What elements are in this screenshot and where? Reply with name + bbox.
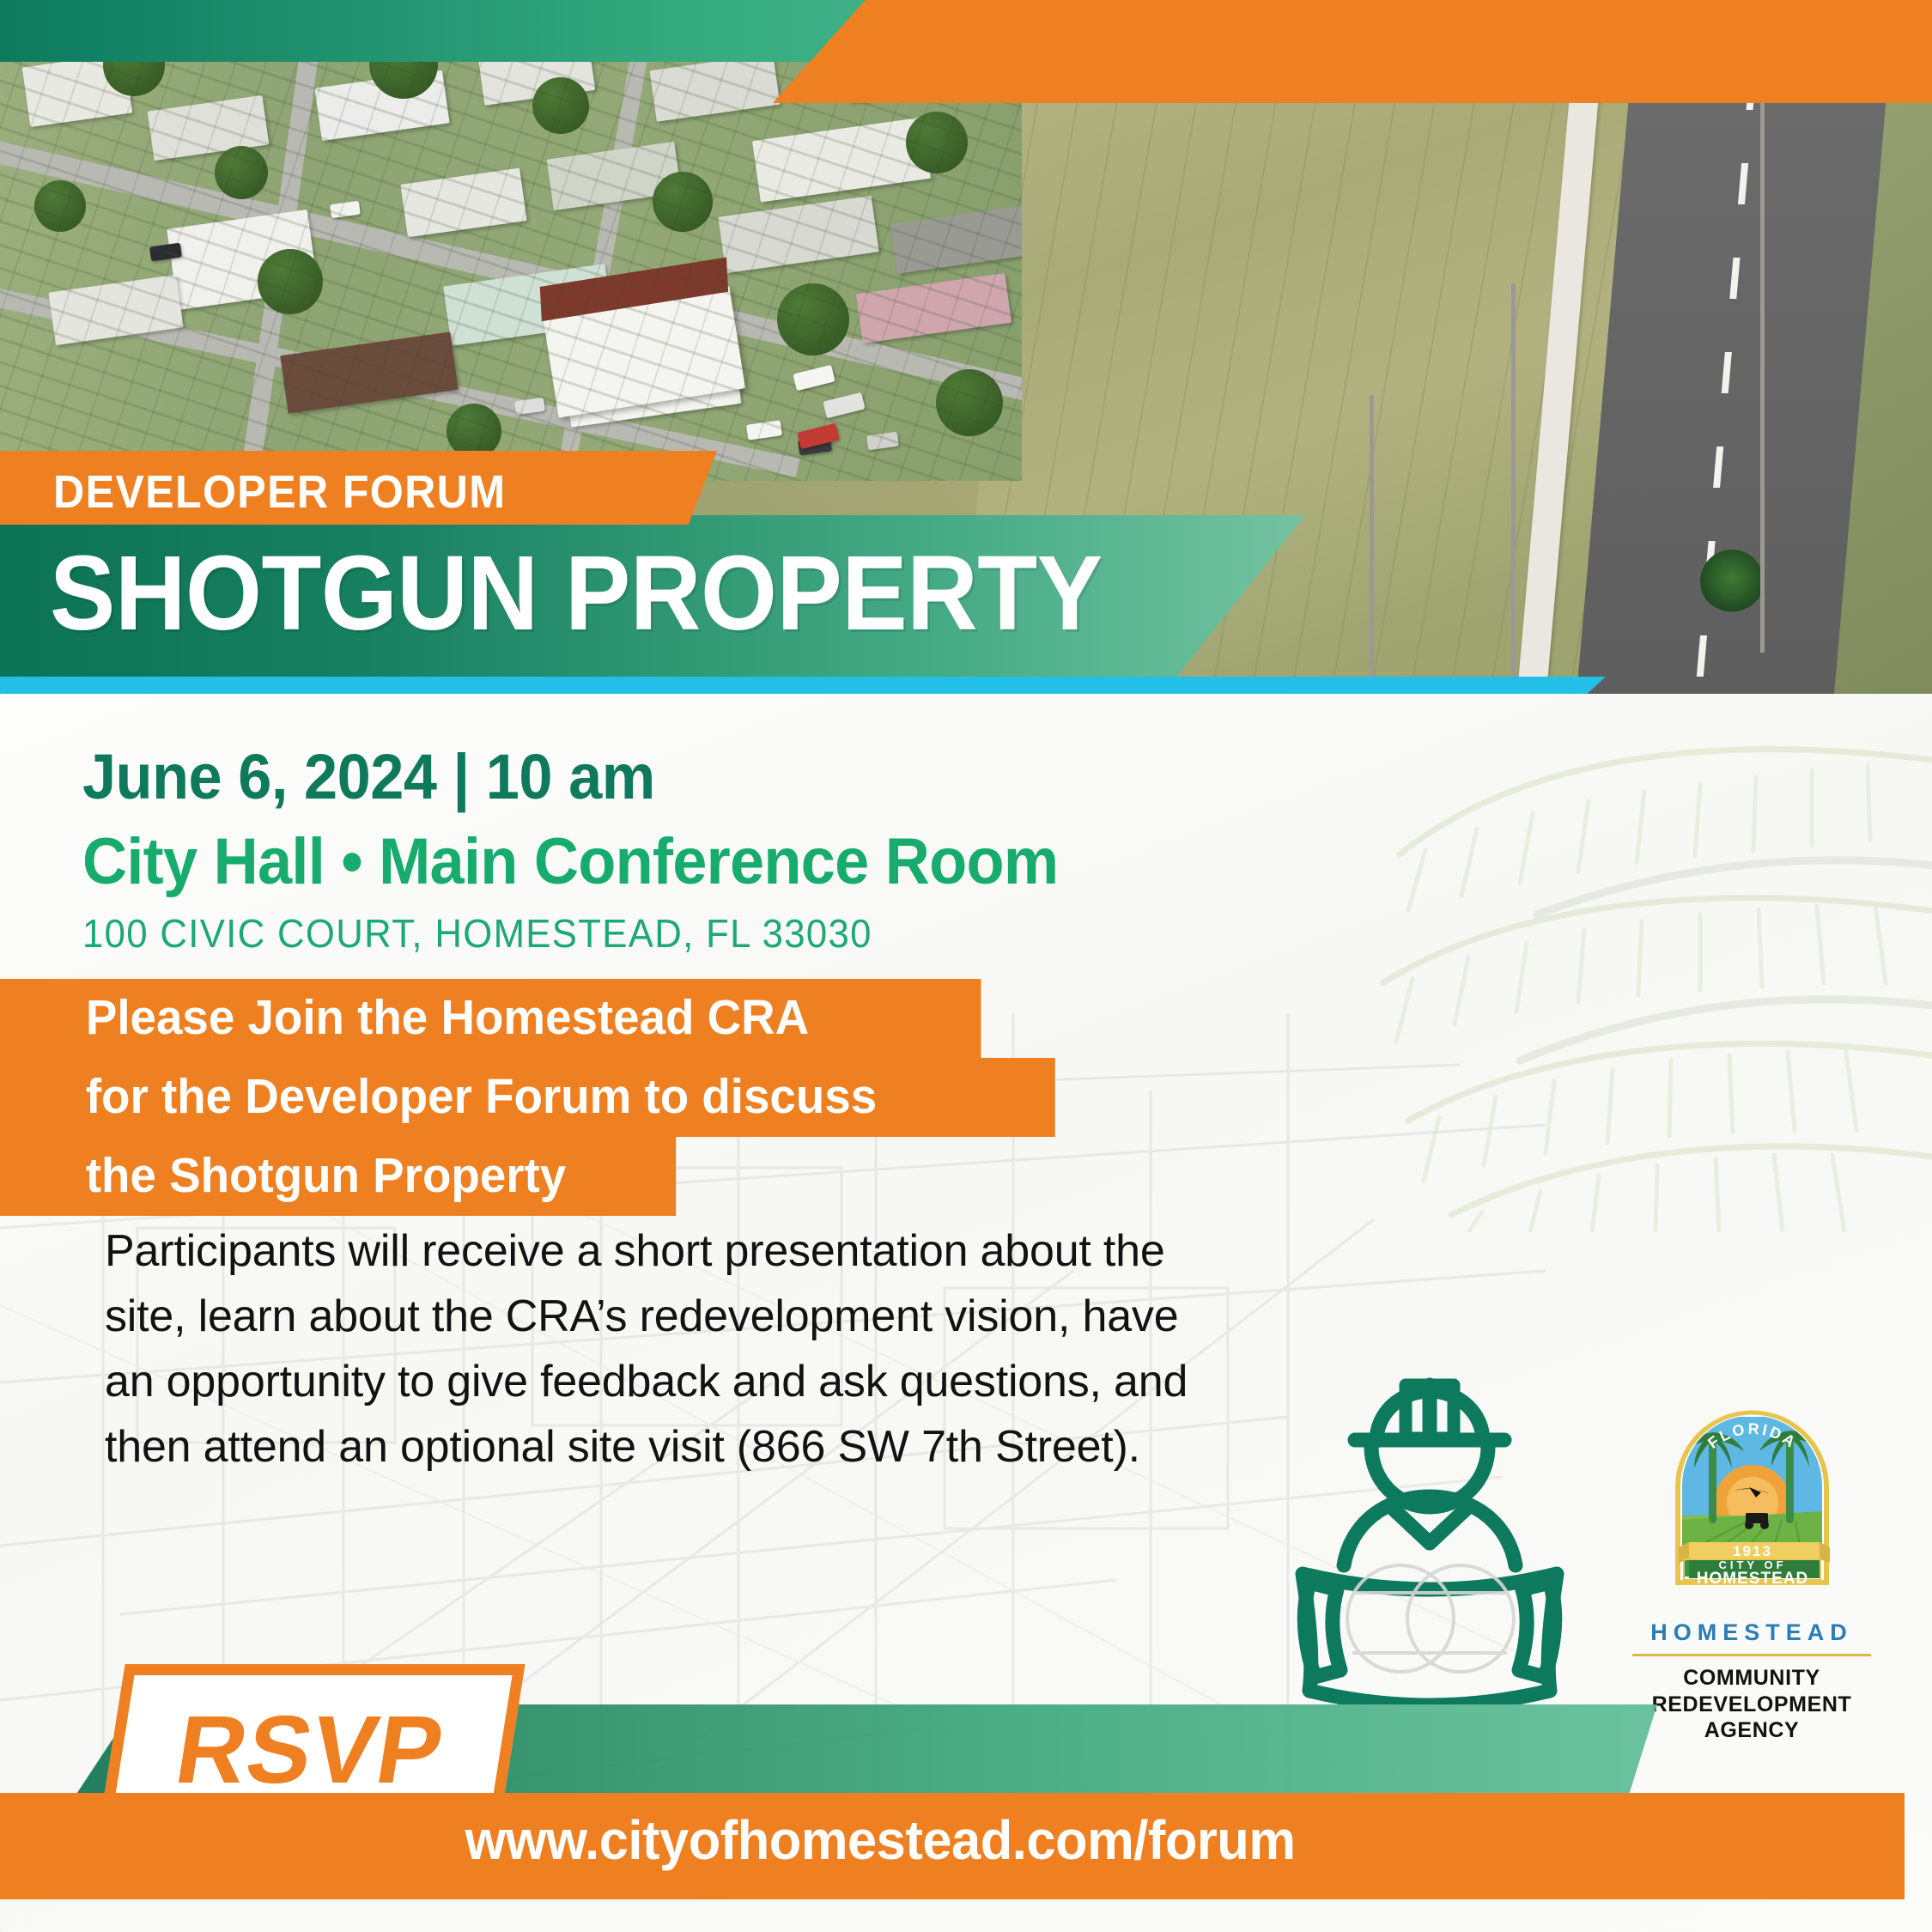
construction-worker-blueprint-icon: [1249, 1327, 1610, 1704]
cra-logo-lockup: FLORIDA 1913 CITY OF HOMESTEAD HOMESTEAD…: [1593, 1382, 1911, 1692]
street: [0, 280, 799, 477]
cra-org-name: HOMESTEAD: [1593, 1619, 1911, 1646]
kicker-label: DEVELOPER FORUM: [53, 465, 506, 519]
event-address: 100 CIVIC COURT, HOMESTEAD, FL 33030: [82, 910, 872, 957]
event-datetime: June 6, 2024 | 10 am: [82, 740, 655, 813]
callout-line-3: the Shotgun Property: [0, 1137, 676, 1216]
rsvp-url-link[interactable]: www.cityofhomestead.com/forum: [35, 1808, 1725, 1872]
seal-city-label: HOMESTEAD: [1696, 1570, 1807, 1588]
callout-block: Please Join the Homestead CRA for the De…: [0, 979, 1073, 1216]
church-building: [543, 287, 745, 418]
event-flyer: DEVELOPER FORUM SHOTGUN PROPERTY: [0, 0, 1932, 1932]
callout-line-1: Please Join the Homestead CRA: [0, 979, 981, 1058]
event-venue: City Hall • Main Conference Room: [82, 824, 1058, 899]
top-orange-band: [773, 0, 1932, 103]
kicker-banner: DEVELOPER FORUM: [0, 451, 717, 525]
street: [554, 0, 666, 481]
callout-line-2: for the Developer Forum to discuss: [0, 1058, 1055, 1137]
palm-frond-icon: [1331, 700, 1932, 1232]
rsvp-label[interactable]: RSVP: [159, 1690, 461, 1810]
body-paragraph: Participants will receive a short presen…: [105, 1219, 1212, 1480]
street: [238, 0, 331, 481]
city-of-homestead-seal-icon: FLORIDA 1913 CITY OF HOMESTEAD: [1660, 1382, 1844, 1607]
cra-divider: [1632, 1654, 1871, 1656]
street: [0, 137, 1022, 401]
page-title: SHOTGUN PROPERTY: [50, 541, 1103, 647]
seal-year-label: 1913: [1733, 1543, 1772, 1559]
